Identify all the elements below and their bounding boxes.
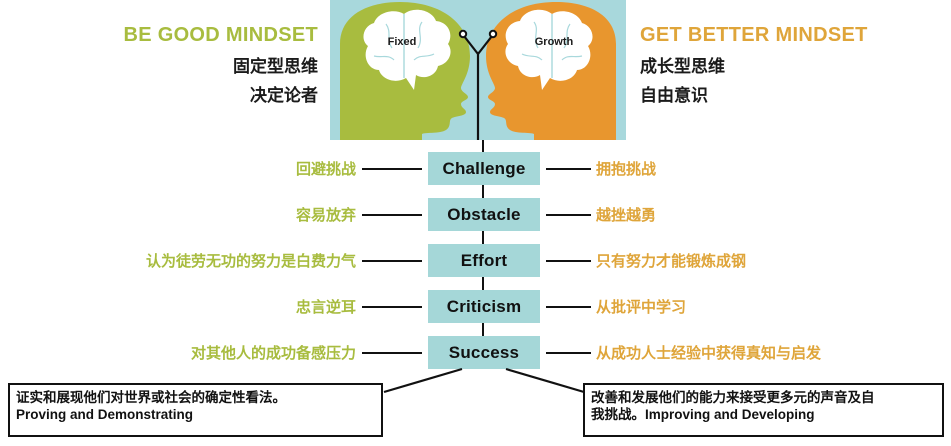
row-obstacle-box[interactable]: Obstacle [428, 198, 540, 231]
row-success-left-connector [362, 352, 422, 354]
connector-stub-3 [482, 277, 484, 290]
row-success-right-connector [546, 352, 591, 354]
row-effort-growth-label: 只有努力才能锻炼成钢 [596, 244, 746, 277]
row-challenge-right-connector [546, 168, 591, 170]
growth-brain-label: Growth [535, 36, 574, 48]
ladder-row-challenge: 回避挑战 Challenge 拥抱挑战 [0, 152, 951, 185]
row-effort-title: Effort [461, 251, 508, 271]
connector-stub-1 [482, 185, 484, 198]
growth-head-group: Growth [486, 2, 616, 140]
row-criticism-right-connector [546, 306, 591, 308]
get-better-mindset-title: GET BETTER MINDSET [640, 22, 951, 48]
row-obstacle-right-connector [546, 214, 591, 216]
get-better-mindset-header: GET BETTER MINDSET 成长型思维 自由意识 [640, 22, 951, 112]
ladder-row-effort: 认为徒劳无功的努力是白费力气 Effort 只有努力才能锻炼成钢 [0, 244, 951, 277]
two-heads-illustration: Fixed Growth [330, 0, 626, 140]
be-good-mindset-subtitle-2: 决定论者 [0, 83, 318, 109]
outcome-box-fixed[interactable]: 证实和展现他们对世界或社会的确定性看法。 Proving and Demonst… [8, 383, 383, 437]
fixed-head-group: Fixed [340, 2, 470, 140]
row-criticism-left-connector [362, 306, 422, 308]
ladder-row-criticism: 忠言逆耳 Criticism 从批评中学习 [0, 290, 951, 323]
fixed-brain-label: Fixed [388, 36, 417, 48]
outcome-fixed-line-1: 证实和展现他们对世界或社会的确定性看法。 [16, 389, 375, 406]
connector-stub-2 [482, 231, 484, 244]
outcome-growth-line-1: 改善和发展他们的能力来接受更多元的声音及自 [591, 389, 936, 406]
row-effort-left-connector [362, 260, 422, 262]
row-obstacle-title: Obstacle [447, 205, 520, 225]
two-heads-svg: Fixed Growth [330, 0, 626, 140]
row-challenge-title: Challenge [442, 159, 525, 179]
outcome-box-growth[interactable]: 改善和发展他们的能力来接受更多元的声音及自 我挑战。Improving and … [583, 383, 944, 437]
outcome-growth-line-2: 我挑战。Improving and Developing [591, 406, 936, 423]
row-effort-box[interactable]: Effort [428, 244, 540, 277]
row-effort-right-connector [546, 260, 591, 262]
connector-stub-4 [482, 323, 484, 336]
row-challenge-box[interactable]: Challenge [428, 152, 540, 185]
row-criticism-box[interactable]: Criticism [428, 290, 540, 323]
row-criticism-title: Criticism [447, 297, 522, 317]
row-obstacle-left-connector [362, 214, 422, 216]
row-criticism-fixed-label: 忠言逆耳 [296, 290, 356, 323]
get-better-mindset-subtitle-2: 自由意识 [640, 83, 951, 109]
row-effort-fixed-label: 认为徒劳无功的努力是白费力气 [146, 244, 356, 277]
ladder-row-obstacle: 容易放弃 Obstacle 越挫越勇 [0, 198, 951, 231]
outcome-fixed-line-2: Proving and Demonstrating [16, 406, 375, 423]
be-good-mindset-header: BE GOOD MINDSET 固定型思维 决定论者 [0, 22, 318, 112]
row-challenge-fixed-label: 回避挑战 [296, 152, 356, 185]
row-obstacle-growth-label: 越挫越勇 [596, 198, 656, 231]
row-challenge-growth-label: 拥抱挑战 [596, 152, 656, 185]
be-good-mindset-title: BE GOOD MINDSET [0, 22, 318, 48]
row-criticism-growth-label: 从批评中学习 [596, 290, 686, 323]
be-good-mindset-subtitle-1: 固定型思维 [0, 54, 318, 80]
get-better-mindset-subtitle-1: 成长型思维 [640, 54, 951, 80]
infographic-canvas: BE GOOD MINDSET 固定型思维 决定论者 GET BETTER MI… [0, 0, 951, 446]
row-obstacle-fixed-label: 容易放弃 [296, 198, 356, 231]
row-challenge-left-connector [362, 168, 422, 170]
